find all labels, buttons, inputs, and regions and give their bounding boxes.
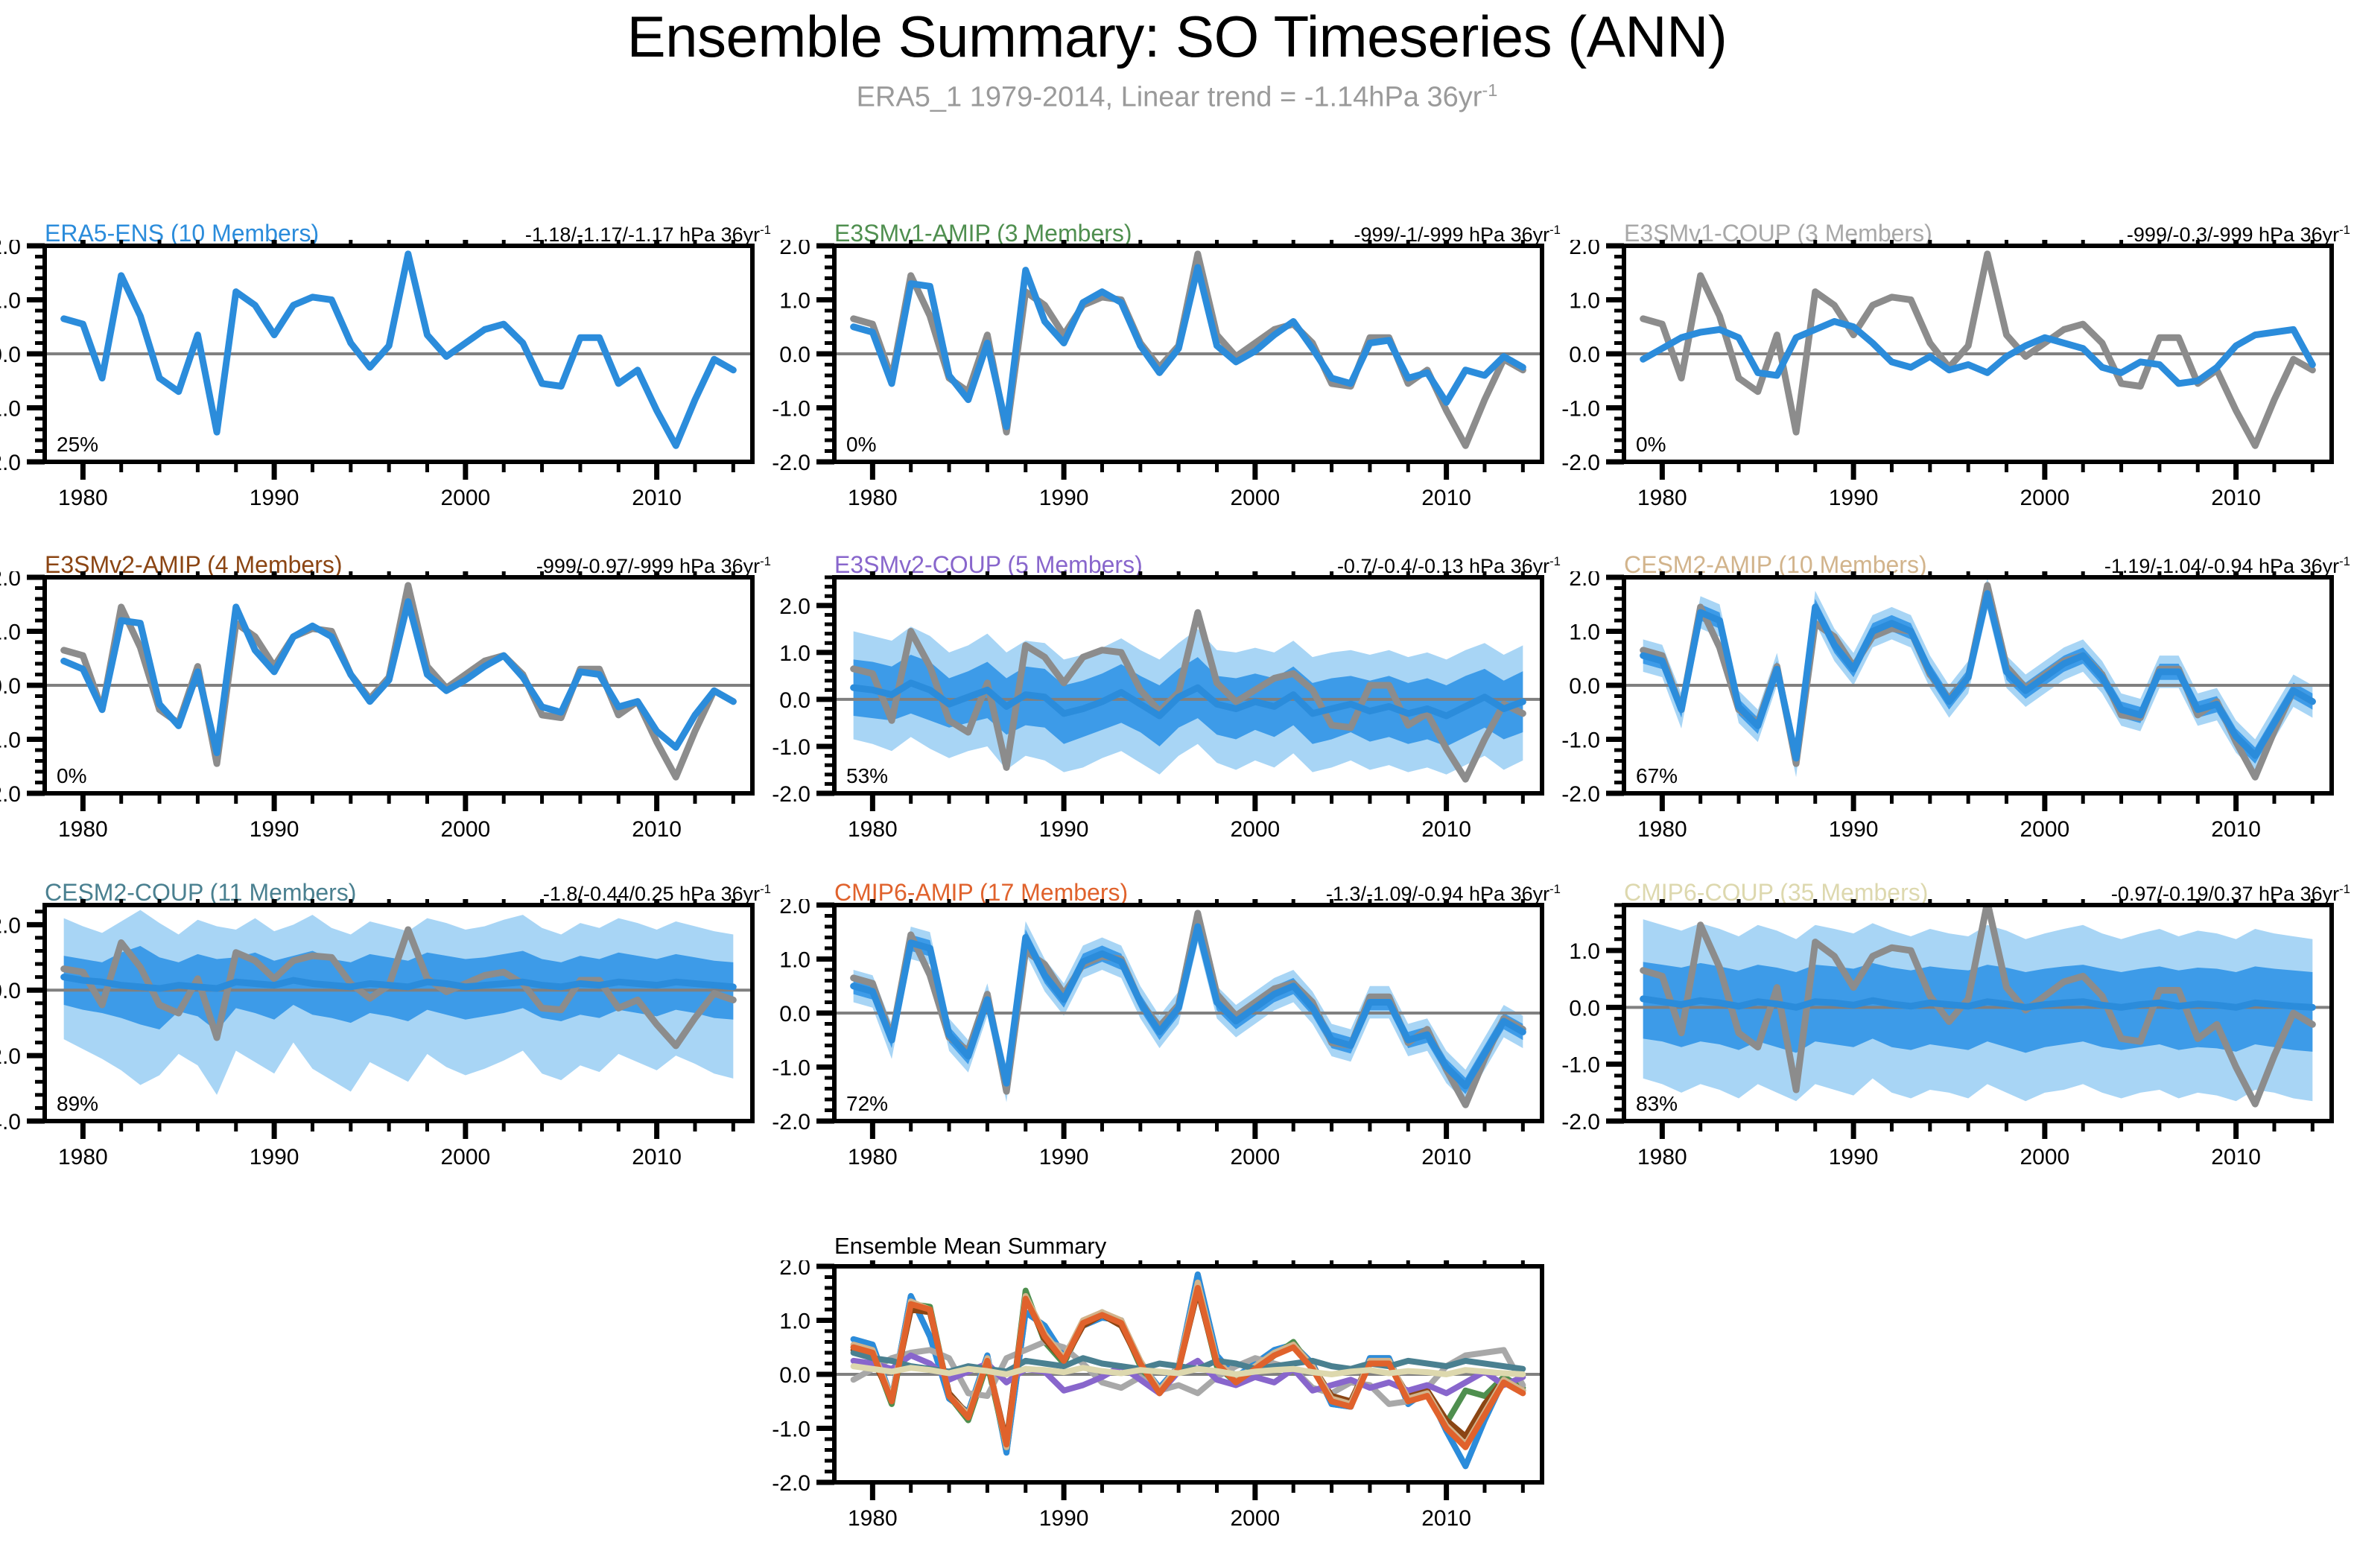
ytick-label: -4.0: [0, 1110, 21, 1134]
xtick-label: 2000: [2020, 817, 2069, 839]
trend-exponent: -1: [760, 882, 771, 896]
ytick-label: 0.0: [0, 343, 21, 367]
xtick-label: 2010: [632, 486, 682, 508]
figure-subtitle: ERA5_1 1979-2014, Linear trend = -1.14hP…: [0, 80, 2354, 114]
plot-area: [834, 910, 1542, 1105]
ytick-label: 0.0: [1569, 674, 1600, 699]
trend-exponent: -1: [1549, 223, 1561, 237]
plot-area: [834, 254, 1542, 445]
ytick-label: -2.0: [772, 782, 810, 807]
percent-label-cesm2-coup: 89%: [57, 1092, 98, 1115]
ytick-label: 1.0: [779, 641, 810, 666]
xtick-label: 2010: [632, 817, 682, 839]
xtick-label: 1980: [848, 486, 898, 508]
xtick-label: 2000: [440, 817, 490, 839]
xtick-label: 1980: [848, 817, 898, 839]
bottom-panel-title: Ensemble Mean Summary: [834, 1233, 1106, 1260]
ytick-label: 1.0: [0, 289, 21, 314]
plot-area: [45, 254, 752, 445]
trend-exponent: -1: [760, 554, 771, 568]
chart-ensemble-mean-summary[interactable]: 2.01.00.0-1.0-2.01980199020002010: [756, 1260, 1557, 1529]
trend-exponent: -1: [2339, 223, 2350, 237]
xtick-label: 1980: [1637, 486, 1687, 508]
figure-canvas: Ensemble Summary: SO Timeseries (ANN) ER…: [0, 0, 2354, 1568]
ytick-label: -1.0: [1561, 397, 1600, 422]
ytick-label: 0.0: [0, 674, 21, 699]
ytick-label: 2.0: [0, 240, 21, 259]
trend-exponent: -1: [2339, 882, 2350, 896]
percent-label-era5-ens: 25%: [57, 433, 98, 456]
xtick-label: 2000: [1230, 486, 1280, 508]
chart-e3smv1-coup[interactable]: 2.01.00.0-1.0-2.019801990200020100%: [1546, 240, 2347, 508]
ytick-label: -1.0: [772, 397, 810, 422]
xtick-label: 1980: [848, 1506, 898, 1529]
xtick-label: 2010: [1421, 817, 1471, 839]
xtick-label: 1990: [250, 1145, 299, 1167]
xtick-label: 2010: [632, 1145, 682, 1167]
ytick-label: -2.0: [1561, 451, 1600, 475]
xtick-label: 1990: [1039, 817, 1089, 839]
chart-cesm2-amip[interactable]: 2.01.00.0-1.0-2.0198019902000201067%: [1546, 571, 2347, 839]
ytick-label: 2.0: [779, 899, 810, 918]
ytick-label: 1.0: [0, 620, 21, 645]
chart-era5-ens[interactable]: 2.01.00.0-1.0-2.0198019902000201025%: [0, 240, 767, 508]
percent-label-cmip6-amip: 72%: [846, 1092, 888, 1115]
xtick-label: 2000: [440, 486, 490, 508]
ytick-label: 2.0: [0, 571, 21, 591]
xtick-label: 1990: [1039, 1145, 1089, 1167]
ytick-label: -2.0: [0, 1044, 21, 1069]
ytick-label: 0.0: [1569, 343, 1600, 367]
ytick-label: 2.0: [779, 240, 810, 259]
xtick-label: 1990: [1829, 1145, 1879, 1167]
ytick-label: -1.0: [1561, 729, 1600, 753]
chart-cmip6-coup[interactable]: 1.00.0-1.0-2.0198019902000201083%: [1546, 899, 2347, 1167]
plot-area: [1624, 577, 2332, 777]
chart-e3smv2-coup[interactable]: 2.01.00.0-1.0-2.0198019902000201053%: [756, 571, 1557, 839]
percent-label-e3smv2-coup: 53%: [846, 764, 888, 787]
ytick-label: 2.0: [779, 1260, 810, 1280]
ytick-label: 2.0: [779, 594, 810, 619]
plot-area: [45, 910, 752, 1095]
ytick-label: 0.0: [0, 979, 21, 1003]
ytick-label: 2.0: [1569, 240, 1600, 259]
chart-e3smv2-amip[interactable]: 2.01.00.0-1.0-2.019801990200020100%: [0, 571, 767, 839]
xtick-label: 1980: [58, 486, 108, 508]
xtick-label: 2010: [1421, 1145, 1471, 1167]
ytick-label: 1.0: [1569, 620, 1600, 645]
xtick-label: 2000: [1230, 1145, 1280, 1167]
figure-subtitle-exponent: -1: [1482, 80, 1497, 100]
xtick-label: 1980: [58, 1145, 108, 1167]
xtick-label: 2000: [2020, 1145, 2069, 1167]
xtick-label: 1990: [1829, 486, 1879, 508]
ytick-label: 0.0: [1569, 996, 1600, 1021]
chart-cmip6-amip[interactable]: 2.01.00.0-1.0-2.0198019902000201072%: [756, 899, 1557, 1167]
plot-area: [834, 1275, 1542, 1466]
xtick-label: 2000: [1230, 817, 1280, 839]
ytick-label: -2.0: [772, 451, 810, 475]
plot-area: [1624, 254, 2332, 445]
xtick-label: 1990: [250, 817, 299, 839]
xtick-label: 2000: [1230, 1506, 1280, 1529]
percent-label-cesm2-amip: 67%: [1636, 764, 1678, 787]
ytick-label: 2.0: [1569, 571, 1600, 591]
percent-label-e3smv2-amip: 0%: [57, 764, 86, 787]
xtick-label: 1980: [58, 817, 108, 839]
ytick-label: 1.0: [779, 289, 810, 314]
xtick-label: 2000: [2020, 486, 2069, 508]
figure-subtitle-text: ERA5_1 1979-2014, Linear trend = -1.14hP…: [857, 82, 1482, 113]
ytick-label: 1.0: [1569, 939, 1600, 964]
percent-label-e3smv1-coup: 0%: [1636, 433, 1666, 456]
ytick-label: -1.0: [1561, 1053, 1600, 1078]
xtick-label: 2010: [2211, 817, 2261, 839]
ytick-label: 2.0: [0, 913, 21, 938]
xtick-label: 1990: [1039, 486, 1089, 508]
xtick-label: 1980: [848, 1145, 898, 1167]
xtick-label: 2010: [1421, 1506, 1471, 1529]
ytick-label: -1.0: [0, 729, 21, 753]
ytick-label: -1.0: [772, 735, 810, 760]
ytick-label: 0.0: [779, 1002, 810, 1026]
trend-exponent: -1: [2339, 554, 2350, 568]
xtick-label: 2000: [440, 1145, 490, 1167]
xtick-label: 2010: [1421, 486, 1471, 508]
xtick-label: 1990: [250, 486, 299, 508]
ytick-label: 0.0: [779, 343, 810, 367]
xtick-label: 1990: [1039, 1506, 1089, 1529]
ytick-label: -2.0: [0, 451, 21, 475]
ytick-label: -2.0: [772, 1110, 810, 1134]
ytick-label: -1.0: [772, 1056, 810, 1081]
xtick-label: 1980: [1637, 817, 1687, 839]
ytick-label: -2.0: [772, 1471, 810, 1496]
xtick-label: 1980: [1637, 1145, 1687, 1167]
ytick-label: 0.0: [779, 1363, 810, 1388]
chart-cesm2-coup[interactable]: 2.00.0-2.0-4.0198019902000201089%: [0, 899, 767, 1167]
ytick-label: 1.0: [779, 1310, 810, 1334]
ytick-label: -2.0: [1561, 1110, 1600, 1134]
ytick-label: -1.0: [772, 1418, 810, 1442]
ytick-label: 1.0: [1569, 289, 1600, 314]
xtick-label: 2010: [2211, 1145, 2261, 1167]
ytick-label: 1.0: [779, 948, 810, 973]
plot-area: [45, 585, 752, 777]
trend-exponent: -1: [1549, 554, 1561, 568]
xtick-label: 1990: [1829, 817, 1879, 839]
trend-exponent: -1: [1549, 882, 1561, 896]
percent-label-e3smv1-amip: 0%: [846, 433, 876, 456]
ytick-label: -2.0: [0, 782, 21, 807]
plot-area: [1624, 902, 2332, 1104]
ytick-label: -1.0: [0, 397, 21, 422]
page-title: Ensemble Summary: SO Timeseries (ANN): [0, 3, 2354, 71]
ytick-label: -2.0: [1561, 782, 1600, 807]
chart-e3smv1-amip[interactable]: 2.01.00.0-1.0-2.019801990200020100%: [756, 240, 1557, 508]
percent-label-cmip6-coup: 83%: [1636, 1092, 1678, 1115]
trend-exponent: -1: [760, 223, 771, 237]
xtick-label: 2010: [2211, 486, 2261, 508]
ytick-label: 0.0: [779, 688, 810, 713]
plot-area: [834, 612, 1542, 779]
